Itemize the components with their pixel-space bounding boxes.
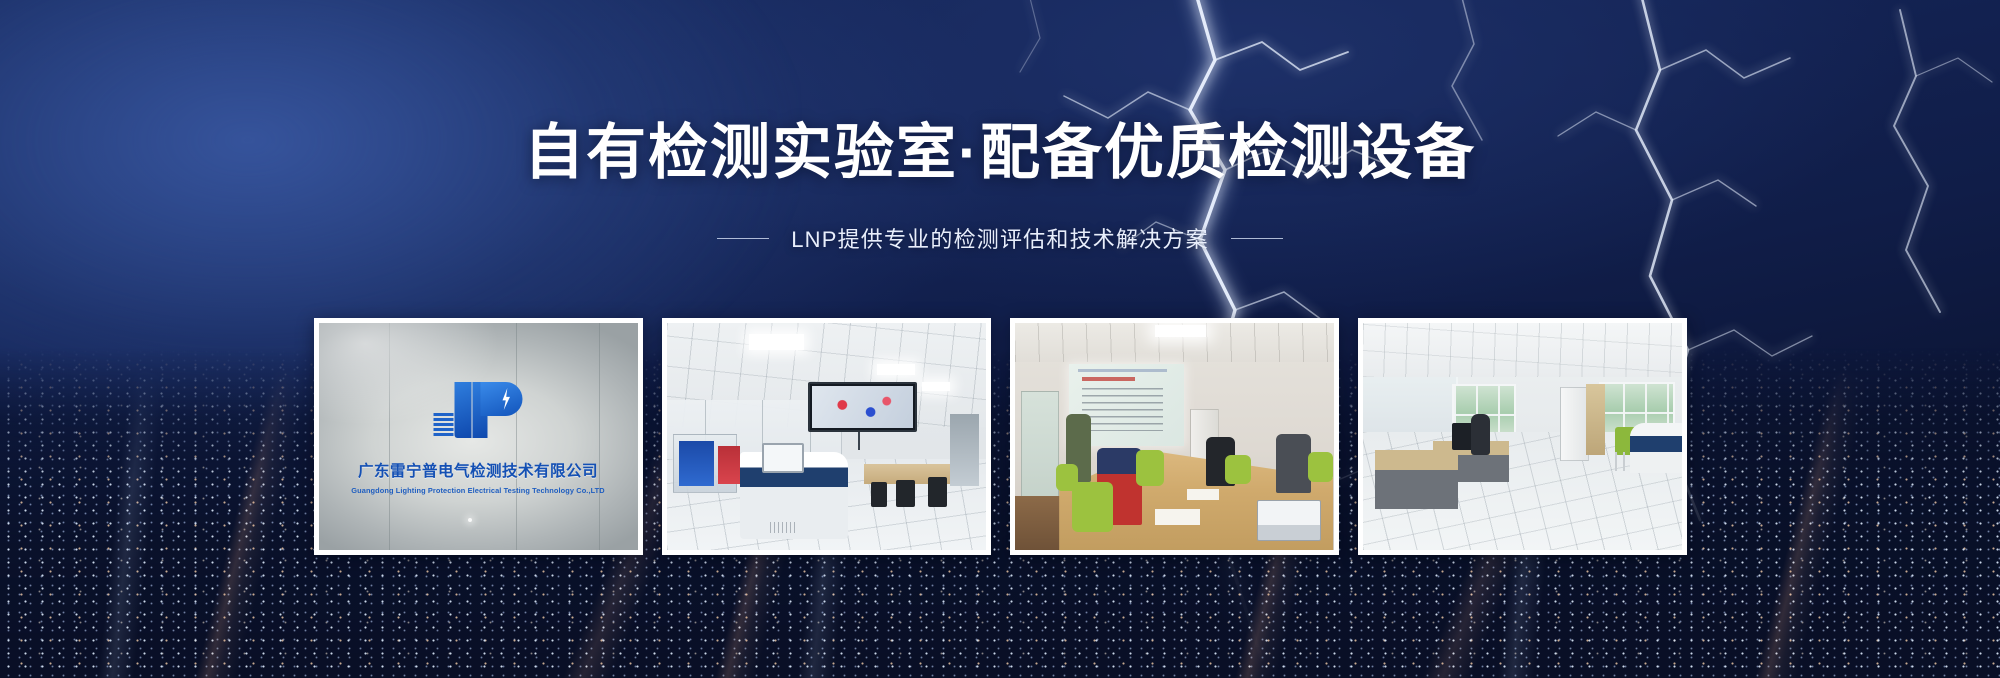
photo-laboratory bbox=[667, 323, 986, 550]
console-monitor bbox=[762, 443, 803, 473]
company-name-cn: 广东雷宁普电气检测技术有限公司 bbox=[358, 459, 598, 481]
photo-gallery: 广东雷宁普电气检测技术有限公司 Guangdong Lighting Prote… bbox=[0, 318, 2000, 555]
rule-left bbox=[717, 238, 769, 239]
wall-highlight bbox=[468, 518, 472, 522]
wall-mounted-tv bbox=[808, 382, 916, 432]
banner-subtitle: LNP提供专业的检测评估和技术解决方案 bbox=[791, 222, 1209, 254]
banner-subtitle-row: LNP提供专业的检测评估和技术解决方案 bbox=[0, 222, 2000, 254]
company-name-en: Guangdong Lighting Protection Electrical… bbox=[351, 486, 604, 495]
reception-counter bbox=[1630, 423, 1681, 473]
hero-banner: 自有检测实验室·配备优质检测设备 LNP提供专业的检测评估和技术解决方案 bbox=[0, 0, 2000, 678]
logo-lightning-bolt-icon bbox=[501, 388, 512, 410]
logo-bars-icon bbox=[434, 413, 454, 436]
laptop bbox=[1257, 500, 1321, 541]
lnp-logo-icon bbox=[434, 382, 523, 438]
gallery-photo-company-sign[interactable]: 广东雷宁普电气检测技术有限公司 Guangdong Lighting Prote… bbox=[314, 318, 643, 555]
banner-headline: 自有检测实验室·配备优质检测设备 bbox=[0, 104, 2000, 191]
photo-meeting-room bbox=[1015, 323, 1334, 550]
gallery-photo-office[interactable] bbox=[1358, 318, 1687, 555]
photo-company-sign: 广东雷宁普电气检测技术有限公司 Guangdong Lighting Prote… bbox=[319, 323, 638, 550]
gallery-photo-meeting-room[interactable] bbox=[1010, 318, 1339, 555]
gallery-photo-laboratory[interactable] bbox=[662, 318, 991, 555]
office-worker bbox=[1471, 414, 1490, 455]
seated-person-right bbox=[1276, 434, 1311, 493]
rule-right bbox=[1231, 238, 1283, 239]
photo-office bbox=[1363, 323, 1682, 550]
